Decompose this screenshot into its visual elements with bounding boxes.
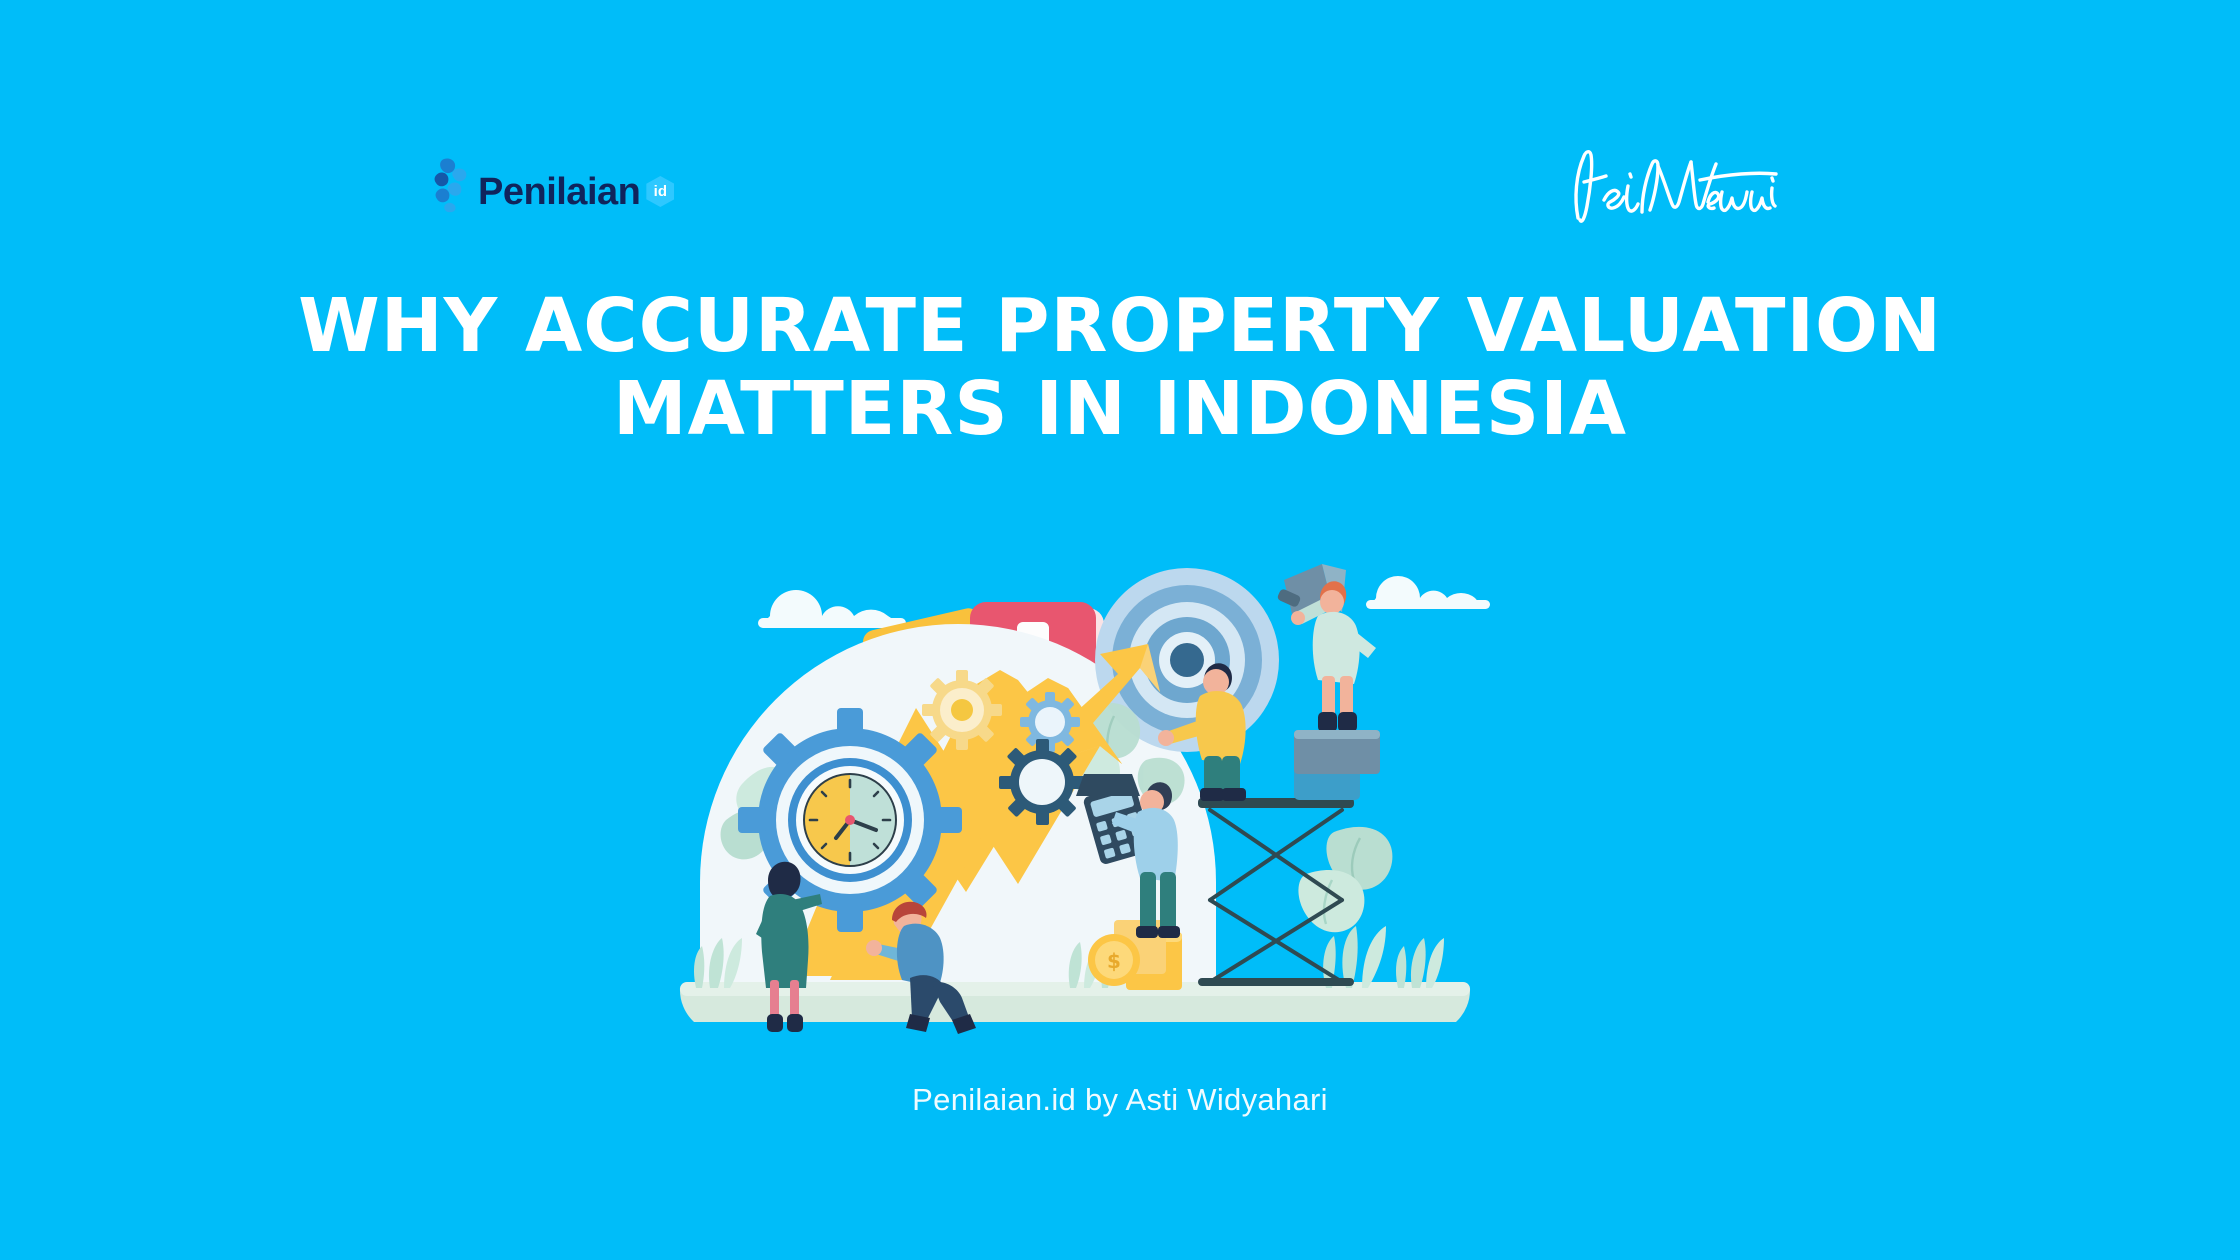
grass-icon: [1396, 938, 1444, 988]
page-title-line-2: MATTERS IN INDONESIA: [0, 368, 2240, 451]
hero-illustration: $: [670, 520, 1570, 1060]
page-title-line-1: WHY ACCURATE PROPERTY VALUATION: [0, 285, 2240, 368]
svg-text:$: $: [1107, 949, 1121, 973]
footer-caption: Penilaian.id by Asti Widyahari: [0, 1082, 2240, 1118]
lift-platform-base: [1198, 978, 1354, 986]
brand-wordmark: Penilaian: [478, 173, 640, 211]
cloud-left: [758, 590, 906, 628]
cloud-right: [1366, 576, 1490, 609]
gear-icon: [999, 739, 1085, 825]
crate-icon: [1076, 774, 1140, 796]
brand-id-badge: id: [646, 176, 674, 207]
page-title: WHY ACCURATE PROPERTY VALUATION MATTERS …: [0, 285, 2240, 451]
pedestal-icon: [1294, 730, 1380, 774]
person-icon: [1277, 564, 1376, 732]
gear-icon: [1020, 692, 1080, 752]
penilaian-leaf-mark-icon: [430, 155, 472, 213]
handwritten-signature-icon: [1560, 140, 1790, 235]
slide-canvas: Penilaian id WHY ACCUR: [0, 0, 2240, 1260]
gear-icon: [922, 670, 1002, 750]
brand-logo[interactable]: Penilaian id: [430, 155, 674, 213]
